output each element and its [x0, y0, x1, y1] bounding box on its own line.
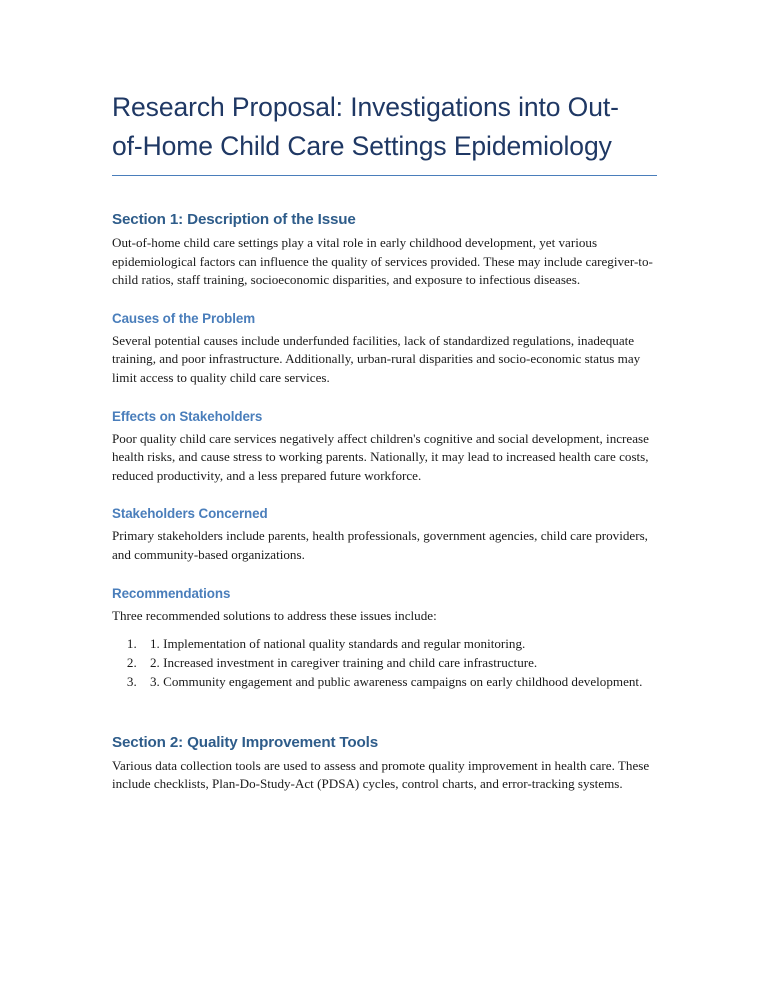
document-content: Research Proposal: Investigations into O… — [112, 88, 657, 794]
list-item: 2. Increased investment in caregiver tra… — [140, 654, 657, 673]
subsection-heading-recommendations: Recommendations — [112, 585, 657, 602]
list-item: 1. Implementation of national quality st… — [140, 635, 657, 654]
subsection-body-recommendations: Three recommended solutions to address t… — [112, 607, 657, 626]
subsection-body-effects: Poor quality child care services negativ… — [112, 430, 657, 486]
section-heading-2: Section 2: Quality Improvement Tools — [112, 733, 657, 752]
subsection-body-causes: Several potential causes include underfu… — [112, 332, 657, 388]
subsection-heading-effects: Effects on Stakeholders — [112, 408, 657, 425]
list-item: 3. Community engagement and public aware… — [140, 673, 657, 692]
title-divider — [112, 175, 657, 176]
subsection-body-stakeholders: Primary stakeholders include parents, he… — [112, 527, 657, 564]
document-page: Research Proposal: Investigations into O… — [0, 0, 768, 994]
section-body-2: Various data collection tools are used t… — [112, 757, 657, 794]
subsection-heading-stakeholders: Stakeholders Concerned — [112, 505, 657, 522]
section-body-1: Out-of-home child care settings play a v… — [112, 234, 657, 290]
section-heading-1: Section 1: Description of the Issue — [112, 210, 657, 229]
subsection-heading-causes: Causes of the Problem — [112, 310, 657, 327]
recommendations-list: 1. Implementation of national quality st… — [112, 635, 657, 691]
page-title: Research Proposal: Investigations into O… — [112, 88, 642, 175]
